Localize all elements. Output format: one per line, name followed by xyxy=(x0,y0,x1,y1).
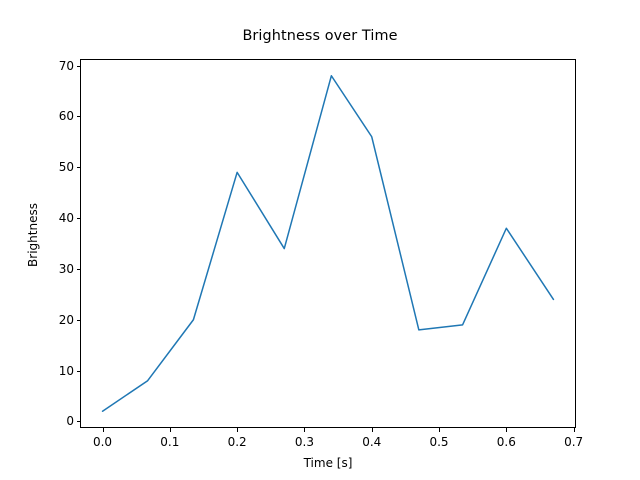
y-tick-label: 60 xyxy=(14,110,74,122)
x-tick-mark xyxy=(574,428,575,432)
y-tick-mark xyxy=(77,269,81,270)
y-tick-mark xyxy=(77,116,81,117)
x-tick-label: 0.0 xyxy=(73,436,133,448)
line-chart-plot xyxy=(80,59,576,428)
y-tick-mark xyxy=(77,421,81,422)
x-tick-mark xyxy=(439,428,440,432)
x-tick-mark xyxy=(170,428,171,432)
y-tick-mark xyxy=(77,371,81,372)
x-tick-mark xyxy=(506,428,507,432)
x-tick-mark xyxy=(304,428,305,432)
chart-title: Brightness over Time xyxy=(0,28,640,44)
y-tick-label: 30 xyxy=(14,263,74,275)
y-tick-label: 0 xyxy=(14,415,74,427)
x-axis-label: Time [s] xyxy=(80,456,576,470)
x-tick-mark xyxy=(103,428,104,432)
x-tick-label: 0.4 xyxy=(342,436,402,448)
y-tick-mark xyxy=(77,218,81,219)
y-tick-label: 50 xyxy=(14,161,74,173)
y-tick-mark xyxy=(77,320,81,321)
y-tick-label: 40 xyxy=(14,212,74,224)
x-tick-label: 0.6 xyxy=(476,436,536,448)
x-tick-label: 0.5 xyxy=(409,436,469,448)
x-tick-label: 0.3 xyxy=(274,436,334,448)
y-axis-label: Brightness xyxy=(26,175,40,295)
x-tick-label: 0.2 xyxy=(207,436,267,448)
y-tick-label: 20 xyxy=(14,314,74,326)
y-tick-mark xyxy=(77,167,81,168)
x-tick-mark xyxy=(237,428,238,432)
chart-figure: Brightness over Time 010203040506070 0.0… xyxy=(0,0,640,480)
x-tick-label: 0.7 xyxy=(544,436,604,448)
x-tick-mark xyxy=(372,428,373,432)
y-tick-mark xyxy=(77,66,81,67)
brightness-data-line xyxy=(103,76,554,411)
y-tick-label: 70 xyxy=(14,60,74,72)
y-tick-label: 10 xyxy=(14,365,74,377)
x-tick-label: 0.1 xyxy=(140,436,200,448)
